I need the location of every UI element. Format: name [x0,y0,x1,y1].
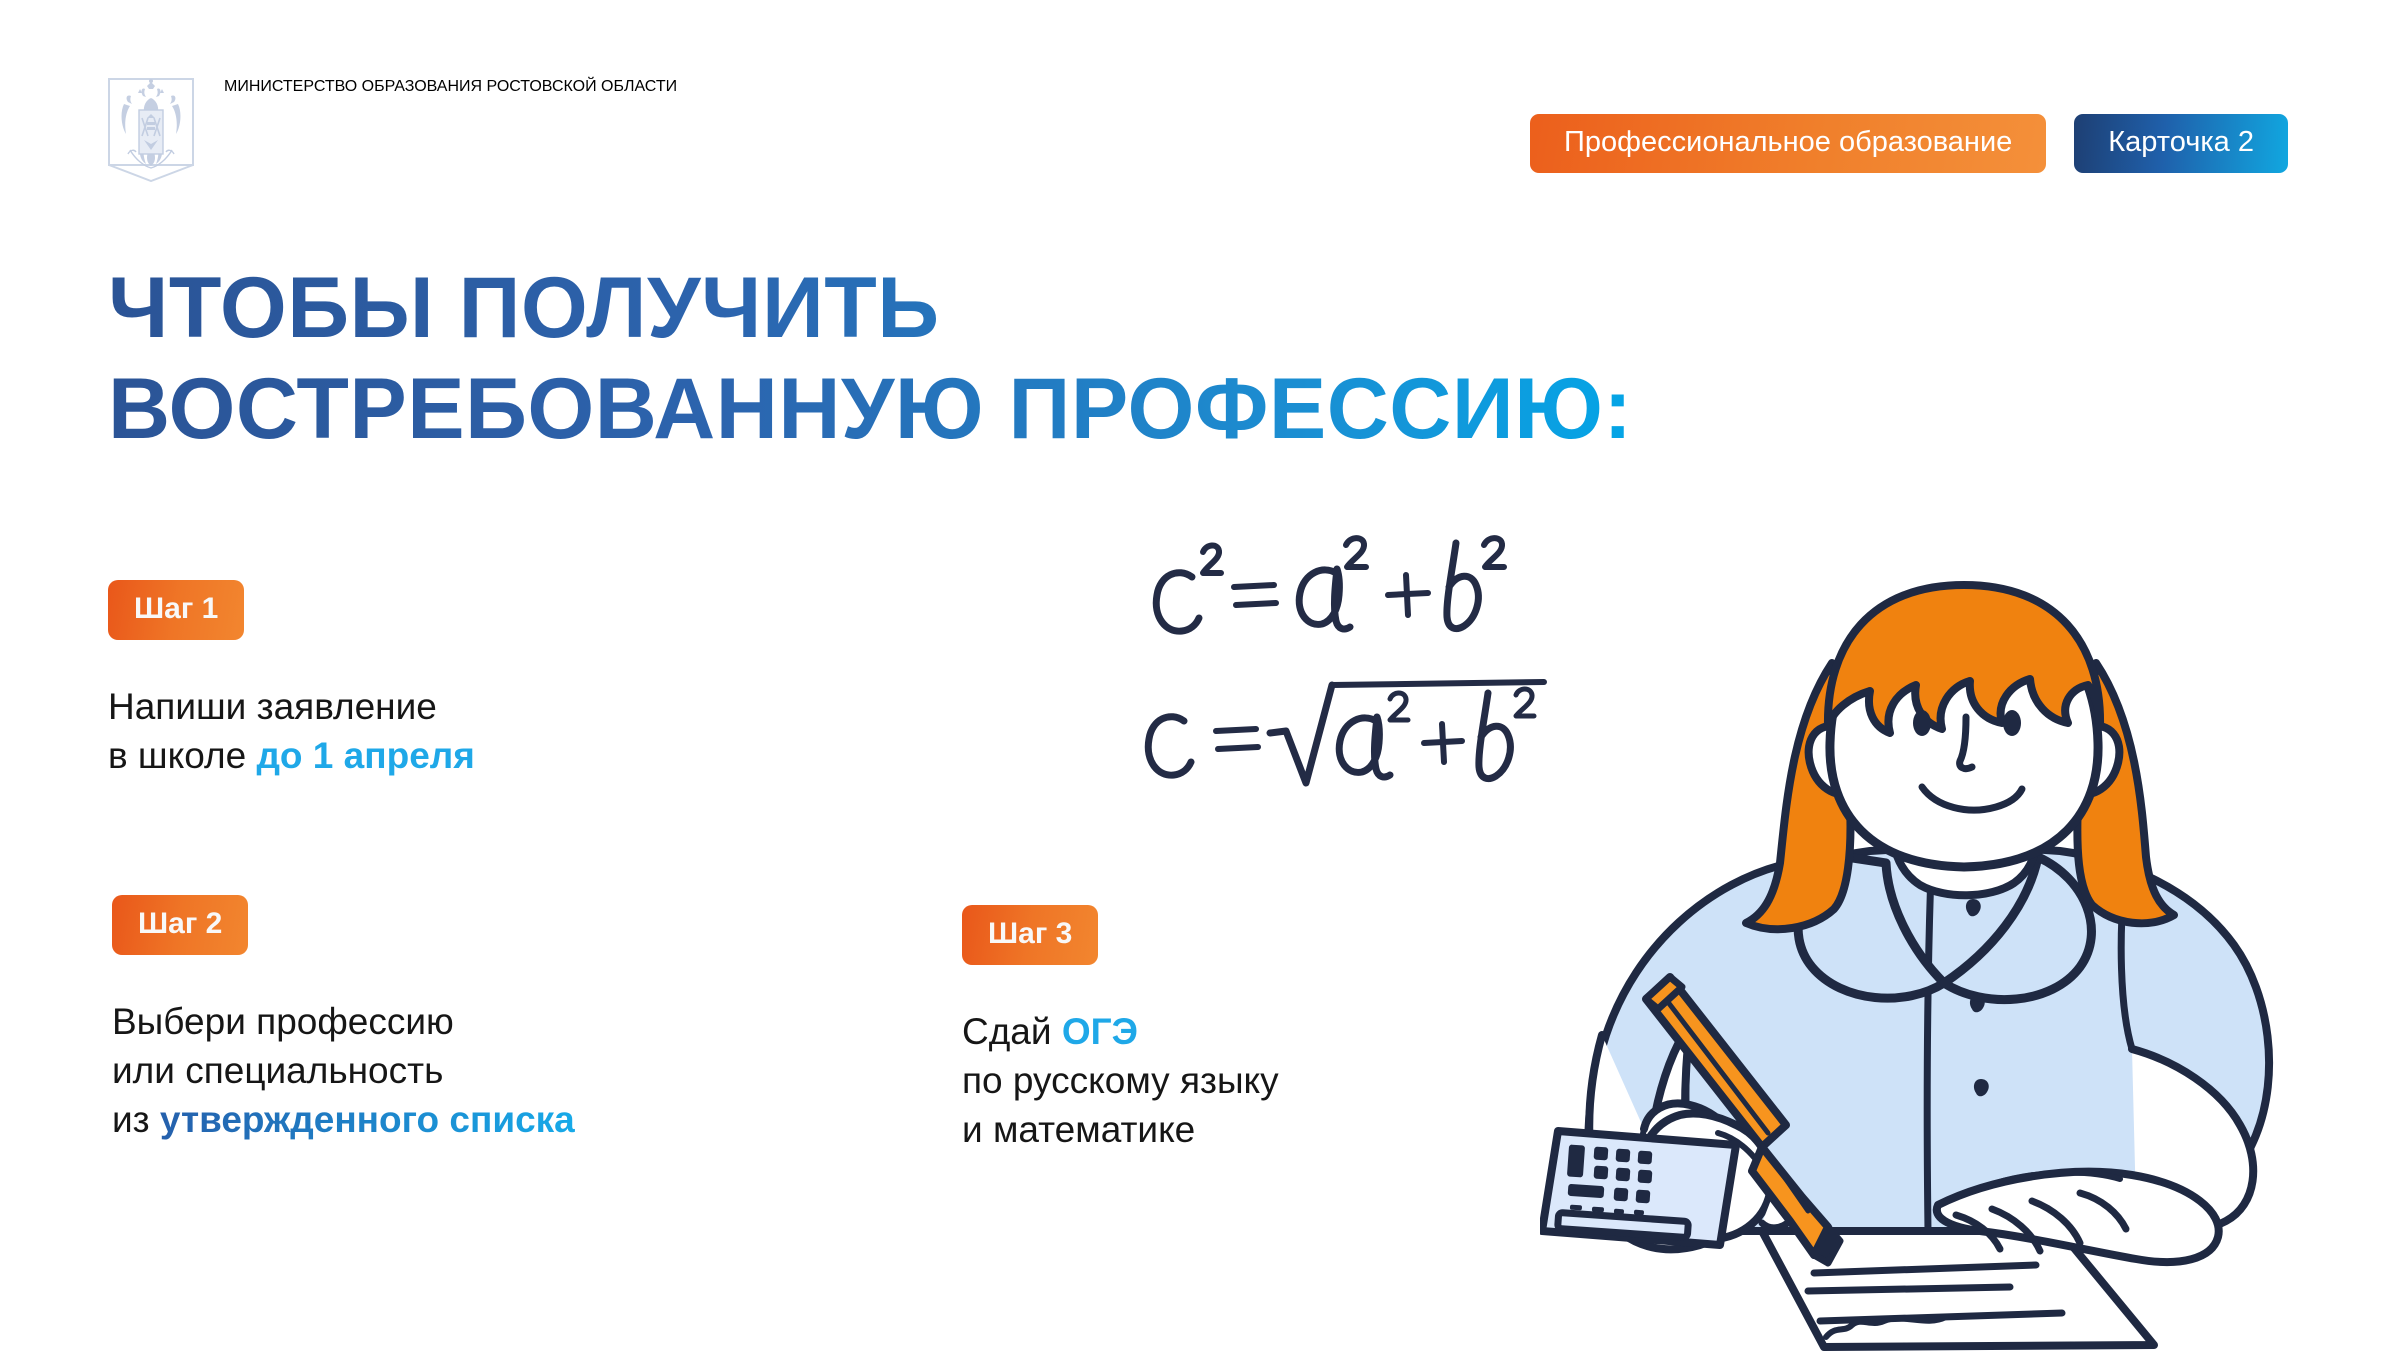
page-header: МИНИСТЕРСТВО ОБРАЗОВАНИЯ РОСТОВСКОЙ ОБЛА… [0,0,2400,200]
step-2-block: Шаг 2 Выбери профессиюили специальностьи… [112,895,575,1145]
step-1-highlight: до 1 апреля [256,735,474,776]
badge-category[interactable]: Профессиональное образование [1530,114,2046,173]
illustration-girl-writing [1540,515,2400,1355]
header-badge-row: Профессиональное образование Карточка 2 [1530,114,2288,173]
step-2-highlight: утвержденного списка [160,1099,575,1140]
step-2-text: Выбери профессиюили специальностьиз утве… [112,997,575,1145]
ministry-name: МИНИСТЕРСТВО ОБРАЗОВАНИЯ РОСТОВСКОЙ ОБЛА… [224,78,677,96]
step-1-text: Напиши заявлениев школе до 1 апреля [108,682,475,780]
step-3-block: Шаг 3 Сдай ОГЭпо русскому языкуи математ… [962,905,1279,1155]
step-3-text: Сдай ОГЭпо русскому языкуи математике [962,1007,1279,1155]
badge-card-number[interactable]: Карточка 2 [2074,114,2288,173]
step-1-block: Шаг 1 Напиши заявлениев школе до 1 апрел… [108,580,475,780]
step-3-highlight: ОГЭ [1062,1011,1138,1052]
page-title: ЧТОБЫ ПОЛУЧИТЬ ВОСТРЕБОВАННУЮ ПРОФЕССИЮ: [108,258,1908,459]
step-2-badge: Шаг 2 [112,895,248,955]
step-1-badge: Шаг 1 [108,580,244,640]
coat-of-arms-icon [108,78,194,182]
step-3-badge: Шаг 3 [962,905,1098,965]
ministry-logo: МИНИСТЕРСТВО ОБРАЗОВАНИЯ РОСТОВСКОЙ ОБЛА… [108,78,677,182]
